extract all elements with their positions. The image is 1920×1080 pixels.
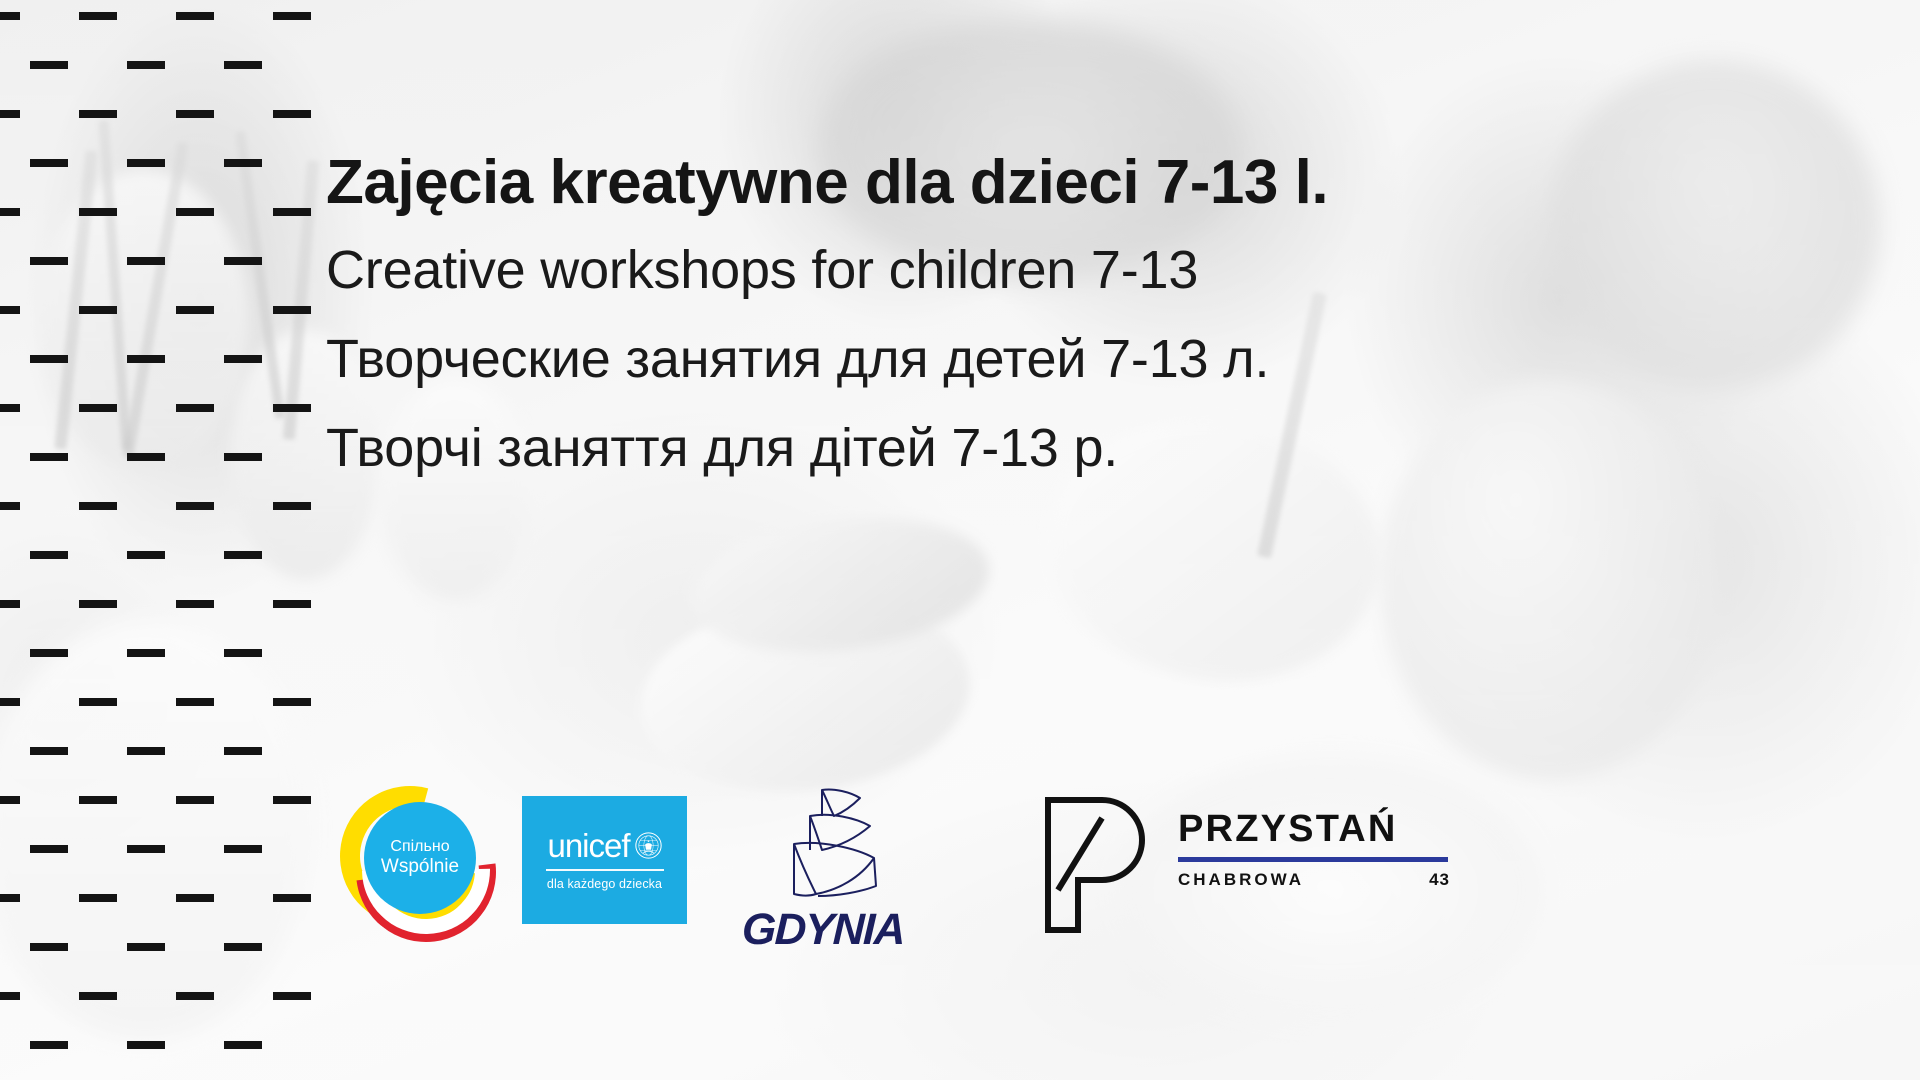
przystan-subline: CHABROWA 43 <box>1178 870 1450 890</box>
page-title: Zajęcia kreatywne dla dzieci 7-13 l. <box>326 140 1886 226</box>
gdynia-logo: GDYNIA <box>742 786 932 961</box>
subtitle-ukrainian: Творчі заняття для дітей 7-13 р. <box>326 404 1886 493</box>
unicef-divider <box>546 869 664 870</box>
gdynia-wordmark: GDYNIA <box>741 905 905 955</box>
przystan-chabrowa-logo: PRZYSTAŃ CHABROWA 43 <box>1040 794 1700 944</box>
spilno-blue-disc: Спільно Wspólnie <box>364 802 476 914</box>
unicef-wordmark: unicef <box>547 829 629 862</box>
subtitle-russian: Творческие занятия для детей 7-13 л. <box>326 315 1886 404</box>
subtitle-english: Creative workshops for children 7-13 <box>326 226 1886 315</box>
unicef-wordmark-row: unicef <box>547 829 661 862</box>
przystan-street: CHABROWA <box>1178 870 1304 890</box>
spilno-label-pl: Wspólnie <box>381 856 459 877</box>
unicef-emblem-icon <box>635 832 662 859</box>
przystan-blue-rule <box>1178 857 1448 862</box>
spilno-wspolnie-logo: Спільно Wspólnie <box>340 786 496 942</box>
przystan-text-block: PRZYSTAŃ CHABROWA 43 <box>1178 810 1478 890</box>
przystan-number: 43 <box>1429 870 1450 890</box>
przystan-wordmark: PRZYSTAŃ <box>1178 810 1478 848</box>
unicef-logo: unicef dla każdego dziecka <box>522 796 687 924</box>
przystan-p-monogram-icon <box>1040 794 1148 936</box>
logo-row: Спільно Wspólnie unicef <box>340 786 1700 986</box>
poster-canvas: Zajęcia kreatywne dla dzieci 7-13 l. Cre… <box>0 0 1920 1080</box>
unicef-tagline: dla każdego dziecka <box>547 877 662 891</box>
headline-block: Zajęcia kreatywne dla dzieci 7-13 l. Cre… <box>326 140 1886 493</box>
gdynia-ship-icon <box>764 786 904 911</box>
spilno-label-uk: Спільно <box>390 838 449 856</box>
